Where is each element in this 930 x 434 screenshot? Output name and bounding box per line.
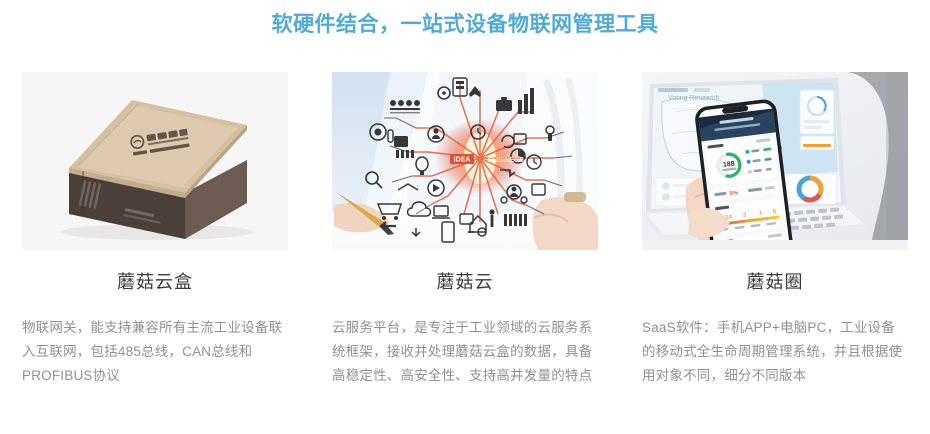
card-description: 云服务平台，是专注于工业领域的云服务系统框架，接收并处理蘑菇云盒的数据，具备高稳… — [332, 316, 596, 388]
card-description: 物联网关，能支持兼容所有主流工业设备联入互联网，包括485总线，CAN总线和PR… — [22, 316, 284, 388]
card-title: 蘑菇圈 — [642, 272, 908, 294]
svg-text:Voting Research: Voting Research — [668, 95, 719, 102]
card-title: 蘑菇云盒 — [22, 272, 288, 294]
feature-card-saas-app[interactable]: Voting Research — [642, 72, 908, 388]
feature-card-product-box[interactable]: 蘑菇云盒 物联网关，能支持兼容所有主流工业设备联入互联网，包括485总线，CAN… — [22, 72, 288, 388]
product-box-photo — [22, 72, 288, 250]
card-description: SaaS软件：手机APP+电脑PC，工业设备的移动式全生命周期管理系统，并且根据… — [642, 316, 906, 388]
iot-concept-photo: IDEA BUSINESS — [332, 72, 598, 250]
page-title: 软硬件结合，一站式设备物联网管理工具 — [0, 8, 930, 38]
feature-cards-row: 蘑菇云盒 物联网关，能支持兼容所有主流工业设备联入互联网，包括485总线，CAN… — [0, 72, 930, 388]
mobile-dashboard-photo: Voting Research — [642, 72, 908, 250]
svg-text:5%: 5% — [729, 190, 739, 197]
feature-card-cloud-platform[interactable]: IDEA BUSINESS 蘑菇云 云服务平台，是专注于工业领域的云服务系统框架… — [332, 72, 598, 388]
card-title: 蘑菇云 — [332, 272, 598, 294]
svg-text:188: 188 — [723, 161, 736, 169]
